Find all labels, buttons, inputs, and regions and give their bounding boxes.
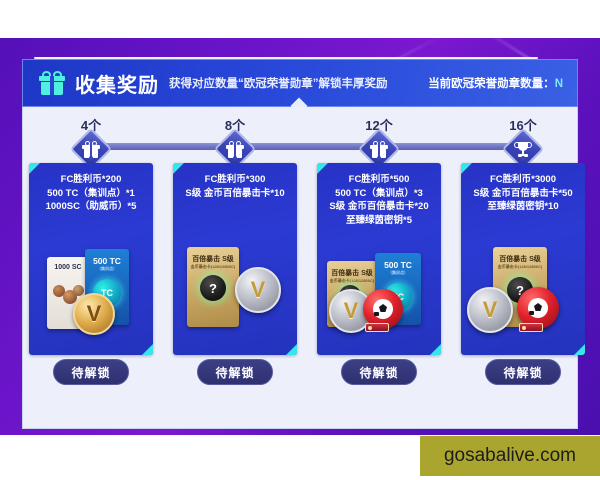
reward-line: S级 金币百倍暴击卡*50 <box>465 187 581 201</box>
crit-pack-sub: 金币暴击卡(128/12800C) <box>493 264 547 270</box>
crit-pack-title: 百倍暴击 S级 <box>493 254 547 264</box>
reward-card[interactable]: FC胜利币*3000 S级 金币百倍暴击卡*50 至臻绿茵密钥*10 百倍暴击 … <box>461 163 585 355</box>
reward-art: 百倍暴击 S级 金币暴击卡(128/12800C) 500 TC （集训点） T… <box>317 241 441 351</box>
reward-card[interactable]: FC胜利币*200 500 TC（集训点）*1 1000SC（助威币）*5 10… <box>29 163 153 355</box>
medal-count: 当前欧冠荣誉勋章数量：N <box>428 75 563 91</box>
unlock-button[interactable]: 待解锁 <box>485 359 561 385</box>
unlock-button[interactable]: 待解锁 <box>53 359 129 385</box>
crit-card-pack: 百倍暴击 S级 金币暴击卡(128/12800C) ? <box>187 247 239 327</box>
reward-line: 500 TC（集训点）*3 <box>321 187 437 201</box>
sc-pack-title: 1000 SC <box>47 264 89 271</box>
v-coin: V <box>235 267 281 313</box>
unlock-button[interactable]: 待解锁 <box>197 359 273 385</box>
reward-line: 500 TC（集训点）*1 <box>33 187 149 201</box>
page-subtitle: 获得对应数量“欧冠荣誉勋章”解锁丰厚奖励 <box>169 75 388 91</box>
milestone-node-1[interactable]: 4个 <box>46 119 136 164</box>
reward-art: 百倍暴击 S级 金币暴击卡(128/12800C) ? V <box>173 241 297 351</box>
reward-line: 1000SC（助威币）*5 <box>33 200 149 214</box>
panel-body: 4个 8个 <box>22 107 578 429</box>
milestone-dot <box>233 156 237 160</box>
reward-card[interactable]: FC胜利币*300 S级 金币百倍暴击卡*10 百倍暴击 S级 金币暴击卡(12… <box>173 163 297 355</box>
reward-card-list: FC胜利币*200 500 TC（集训点）*1 1000SC（助威币）*5 10… <box>23 163 579 355</box>
reward-line: 至臻绿茵密钥*5 <box>321 214 437 228</box>
rewards-panel: 收集奖励 获得对应数量“欧冠荣誉勋章”解锁丰厚奖励 当前欧冠荣誉勋章数量：N 4… <box>22 58 578 430</box>
reward-line: FC胜利币*500 <box>321 173 437 187</box>
reward-line: S级 金币百倍暴击卡*10 <box>177 187 293 201</box>
tc-pack-title: 500 TC <box>375 260 421 270</box>
milestone-node-4[interactable]: 16个 <box>478 119 568 164</box>
milestone-dot <box>377 156 381 160</box>
reward-line: FC胜利币*300 <box>177 173 293 187</box>
reward-line: FC胜利币*200 <box>33 173 149 187</box>
v-coin: V <box>467 287 513 333</box>
reward-text-list: FC胜利币*300 S级 金币百倍暴击卡*10 <box>177 173 293 200</box>
reward-art: 1000 SC 500 TC （集训点） TC V <box>29 241 153 351</box>
reward-art: 百倍暴击 S级 金币暴击卡(128/12800C) ? V <box>461 241 585 351</box>
crit-pack-sub: 金币暴击卡(128/12800C) <box>327 278 377 284</box>
medal-count-label: 当前欧冠荣誉勋章数量： <box>428 78 555 90</box>
key-bar-icon <box>519 323 543 332</box>
promo-page: 收集奖励 获得对应数量“欧冠荣誉勋章”解锁丰厚奖励 当前欧冠荣誉勋章数量：N 4… <box>0 38 600 435</box>
milestone-node-3[interactable]: 12个 <box>334 119 424 164</box>
crit-pack-title: 百倍暴击 S级 <box>327 268 377 278</box>
unlock-button[interactable]: 待解锁 <box>341 359 417 385</box>
reward-line: FC胜利币*3000 <box>465 173 581 187</box>
gift-icon <box>39 71 65 95</box>
panel-header: 收集奖励 获得对应数量“欧冠荣誉勋章”解锁丰厚奖励 当前欧冠荣誉勋章数量：N <box>22 59 578 107</box>
watermark: gosabalive.com <box>420 436 600 476</box>
progress-bar <box>91 143 523 150</box>
page-title: 收集奖励 <box>75 69 159 98</box>
reward-text-list: FC胜利币*500 500 TC（集训点）*3 S级 金币百倍暴击卡*20 至臻… <box>321 173 437 227</box>
tc-pack-title: 500 TC <box>85 256 129 266</box>
unlock-button-row: 待解锁 待解锁 待解锁 待解锁 <box>23 359 579 393</box>
reward-line: 至臻绿茵密钥*10 <box>465 200 581 214</box>
mystery-orb: ? <box>200 275 226 301</box>
medal-count-value: N <box>555 78 563 90</box>
reward-card[interactable]: FC胜利币*500 500 TC（集训点）*3 S级 金币百倍暴击卡*20 至臻… <box>317 163 441 355</box>
v-coin: V <box>73 293 115 335</box>
milestone-dot <box>89 156 93 160</box>
tc-pack-sub: （集训点） <box>375 270 421 276</box>
milestone-track: 4个 8个 <box>23 119 579 161</box>
reward-line: S级 金币百倍暴击卡*20 <box>321 200 437 214</box>
crit-pack-sub: 金币暴击卡(128/12800C) <box>187 264 239 270</box>
crit-pack-title: 百倍暴击 S级 <box>187 254 239 264</box>
key-bar-icon <box>365 323 389 332</box>
reward-text-list: FC胜利币*200 500 TC（集训点）*1 1000SC（助威币）*5 <box>33 173 149 214</box>
milestone-dot <box>521 156 525 160</box>
tc-pack-sub: （集训点） <box>85 266 129 272</box>
milestone-node-2[interactable]: 8个 <box>190 119 280 164</box>
reward-text-list: FC胜利币*3000 S级 金币百倍暴击卡*50 至臻绿茵密钥*10 <box>465 173 581 214</box>
